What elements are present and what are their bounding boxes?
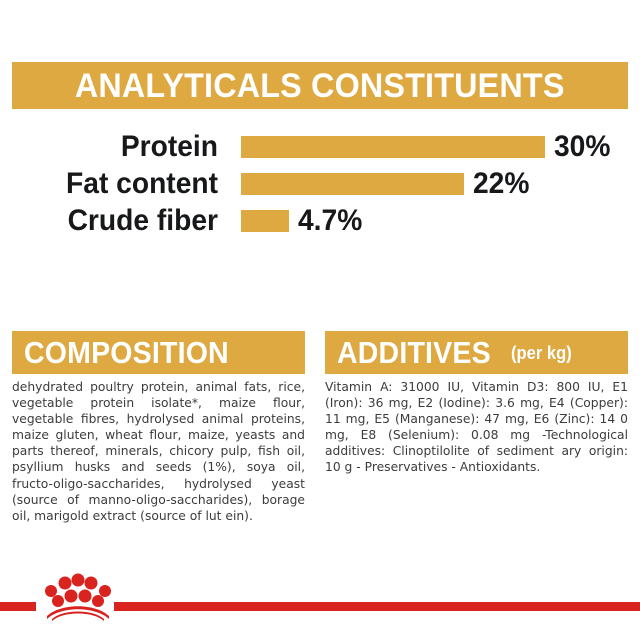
chart-label-crude-fiber: Crude fiber [13,206,218,236]
composition-banner-title: COMPOSITION [24,337,229,368]
chart-row-fat-content: Fat content 22% [0,165,640,202]
additives-banner-title: ADDITIVES [337,337,491,368]
royal-canin-crown-icon [43,573,113,621]
chart-bar-wrap-fat-content: 22% [241,165,533,202]
chart-value-crude-fiber: 4.7% [298,206,362,236]
composition-banner: COMPOSITION [12,331,305,374]
chart-bar-protein [241,136,545,158]
chart-row-protein: Protein 30% [0,128,640,165]
footer-logo [0,555,640,640]
additives-banner: ADDITIVES (per kg) [325,331,628,374]
chart-bar-wrap-crude-fiber: 4.7% [241,202,366,239]
composition-text: dehydrated poultry protein, animal fats,… [12,379,305,524]
chart-label-fat-content: Fat content [13,169,218,199]
additives-text: Vitamin A: 31000 IU, Vitamin D3: 800 IU,… [325,379,628,476]
chart-row-crude-fiber: Crude fiber 4.7% [0,202,640,239]
chart-bar-crude-fiber [241,210,289,232]
chart-value-fat-content: 22% [473,169,529,199]
analyticals-banner-title: ANALYTICALS CONSTITUENTS [75,69,565,103]
chart-value-protein: 30% [554,132,610,162]
chart-bar-fat-content [241,173,464,195]
chart-label-protein: Protein [13,132,218,162]
footer-rule-left [0,602,36,611]
chart-bar-wrap-protein: 30% [241,128,614,165]
analyticals-bar-chart: Protein 30% Fat content 22% Crude fiber … [0,128,640,240]
footer-rule-right [114,602,640,611]
additives-banner-subtitle: (per kg) [511,344,572,362]
analyticals-constituents-banner: ANALYTICALS CONSTITUENTS [12,62,628,109]
